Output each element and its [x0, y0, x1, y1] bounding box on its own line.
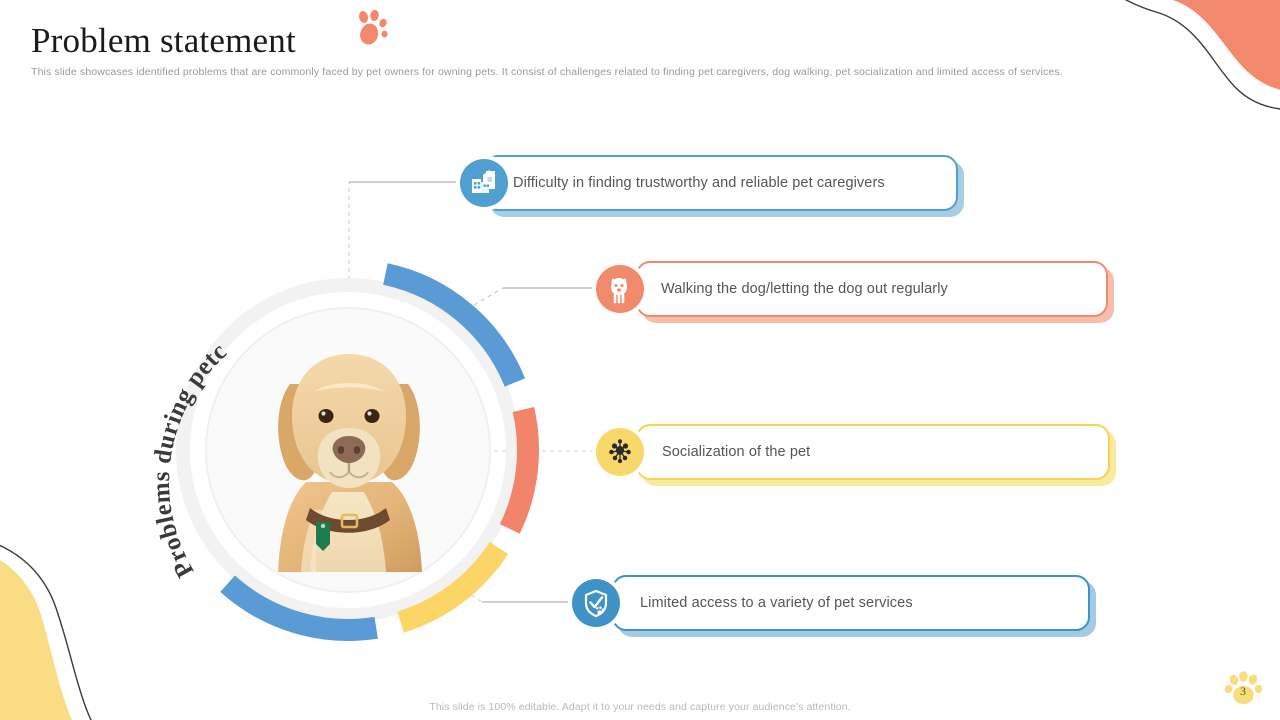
center-wheel-diagram: Problems during petcare: [148, 250, 548, 650]
callout-label: Difficulty in finding trustworthy and re…: [513, 175, 885, 191]
slide-root: Problem statement This slide showcases i…: [0, 0, 1280, 720]
footer-note: This slide is 100% editable. Adapt it to…: [0, 701, 1280, 713]
callout-label: Limited access to a variety of pet servi…: [640, 595, 913, 611]
callout-row-2[interactable]: Walking the dog/letting the dog out regu…: [636, 261, 1108, 317]
callout-row-4[interactable]: Limited access to a variety of pet servi…: [612, 575, 1090, 631]
page-subtitle: This slide showcases identified problems…: [31, 65, 1081, 79]
callout-box[interactable]: Limited access to a variety of pet servi…: [612, 575, 1090, 631]
callout-row-1[interactable]: Difficulty in finding trustworthy and re…: [484, 155, 958, 211]
callout-row-3[interactable]: Socialization of the pet: [636, 424, 1110, 480]
dog-icon[interactable]: [596, 265, 644, 313]
pet-shelter-building-icon[interactable]: [460, 159, 508, 207]
page-title: Problem statement: [31, 20, 296, 62]
paw-network-icon[interactable]: [596, 428, 644, 476]
callout-box[interactable]: Socialization of the pet: [636, 424, 1110, 480]
shield-paw-icon[interactable]: [572, 579, 620, 627]
callout-label: Socialization of the pet: [662, 444, 810, 460]
callout-box[interactable]: Walking the dog/letting the dog out regu…: [636, 261, 1108, 317]
callout-label: Walking the dog/letting the dog out regu…: [661, 281, 948, 297]
callout-box[interactable]: Difficulty in finding trustworthy and re…: [484, 155, 958, 211]
top-right-blob-decoration: [1026, 0, 1280, 114]
paw-print-icon: [347, 10, 391, 50]
page-number: 3: [1237, 684, 1249, 699]
golden-retriever-photo: [254, 332, 444, 572]
